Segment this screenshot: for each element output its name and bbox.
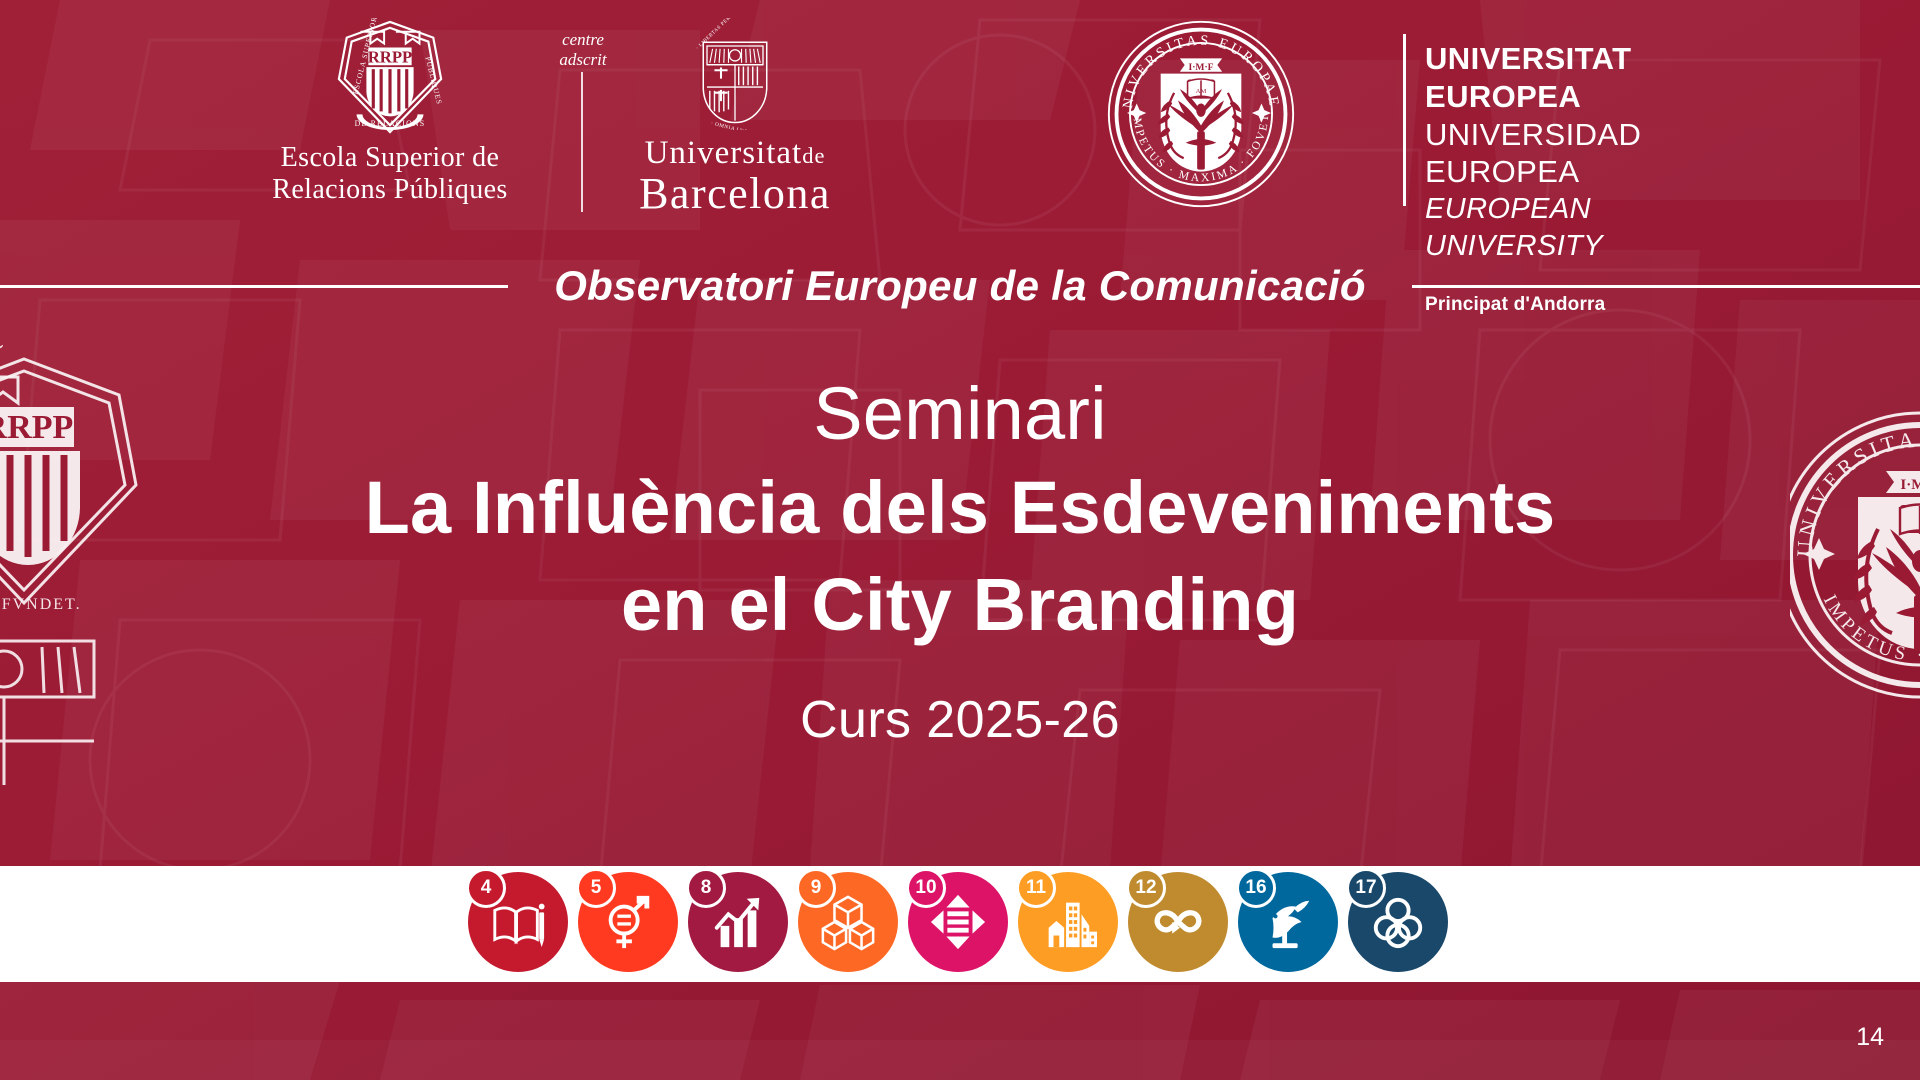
ub-wordmark: Universitatde Barcelona [590,136,880,217]
ub-wordmark-line2: Barcelona [590,171,880,217]
sdg-number: 9 [811,877,822,899]
sdg-item-16[interactable]: 16 [1238,872,1342,976]
logo-divider-1 [581,72,583,212]
ub-shield-seal-icon: · LIBERTAS PERFVNDET · OMNIA LVCE · [679,18,791,130]
sdg-item-12[interactable]: 12 [1128,872,1232,976]
sdg-number: 8 [701,877,712,899]
sdg-number: 16 [1245,877,1266,899]
esrp-wordmark-line2: Relacions Públiques [240,174,540,206]
seminar-title-line2: en el City Branding [0,560,1920,650]
sdg-row: 4 [468,872,1452,976]
esrp-shield-seal-icon: RRPP DE RELACIONS ESCOLA SUPERIOR PÚBLIQ… [331,18,449,136]
sdg-number: 12 [1135,877,1156,899]
page-number: 14 [1856,1023,1884,1052]
sdg-item-11[interactable]: 11 [1018,872,1122,976]
esrp-wordmark-line1: Escola Superior de [240,142,540,174]
ue-line-catalan: UNIVERSITAT EUROPEA [1425,40,1641,116]
ub-wordmark-line1: Universitat [645,135,803,171]
ue-line-english: EUROPEAN UNIVERSITY [1425,191,1641,264]
svg-text:PÚBLIQUES: PÚBLIQUES [423,55,445,105]
bottom-band [0,982,1920,1080]
sdg-item-17[interactable]: 17 [1348,872,1452,976]
esrp-logo: RRPP DE RELACIONS ESCOLA SUPERIOR PÚBLIQ… [240,18,540,206]
sdg-item-9[interactable]: 9 [798,872,902,976]
seminar-title-line1: La Influència dels Esdeveniments [0,463,1920,553]
sdg-number: 17 [1355,877,1376,899]
logo-band: RRPP DE RELACIONS ESCOLA SUPERIOR PÚBLIQ… [0,0,1920,258]
sdg-item-4[interactable]: 4 [468,872,572,976]
ub-wordmark-de: de [802,143,825,168]
observatori-rule-left [0,285,508,288]
observatori-rule-right [1412,285,1920,288]
observatori-banner: Observatori Europeu de la Comunicació [0,258,1920,314]
main-title-block: Seminari La Influència dels Esdeveniment… [0,370,1920,750]
svg-text:I·M·F: I·M·F [1188,62,1213,73]
svg-text:A LVCE ·: A LVCE · [0,769,2,785]
universitas-europaea-seal-icon: UNIVERSITAS EUROPAEA IMPETUS · MAXIMA · … [1105,18,1297,210]
svg-text:AM: AM [1196,88,1207,95]
observatori-title: Observatori Europeu de la Comunicació [554,262,1366,310]
svg-text:DE RELACIONS: DE RELACIONS [355,119,426,128]
universitat-europea-divider [1403,34,1406,206]
esrp-wordmark: Escola Superior de Relacions Públiques [240,142,540,206]
ub-logo: · LIBERTAS PERFVNDET · OMNIA LVCE · Univ… [590,18,880,217]
sdg-strip: 4 [0,866,1920,982]
sdg-item-8[interactable]: 8 [688,872,792,976]
svg-text:RRPP: RRPP [368,47,413,66]
sdg-number: 10 [915,877,936,899]
seminar-course-year: Curs 2025-26 [0,690,1920,750]
sdg-item-10[interactable]: 10 [908,872,1012,976]
sdg-number: 11 [1026,877,1046,899]
sdg-number: 4 [481,877,492,899]
sdg-item-5[interactable]: 5 [578,872,682,976]
ue-line-spanish: UNIVERSIDAD EUROPEA [1425,116,1641,192]
seminar-eyebrow: Seminari [0,370,1920,457]
sdg-number: 5 [591,877,602,899]
